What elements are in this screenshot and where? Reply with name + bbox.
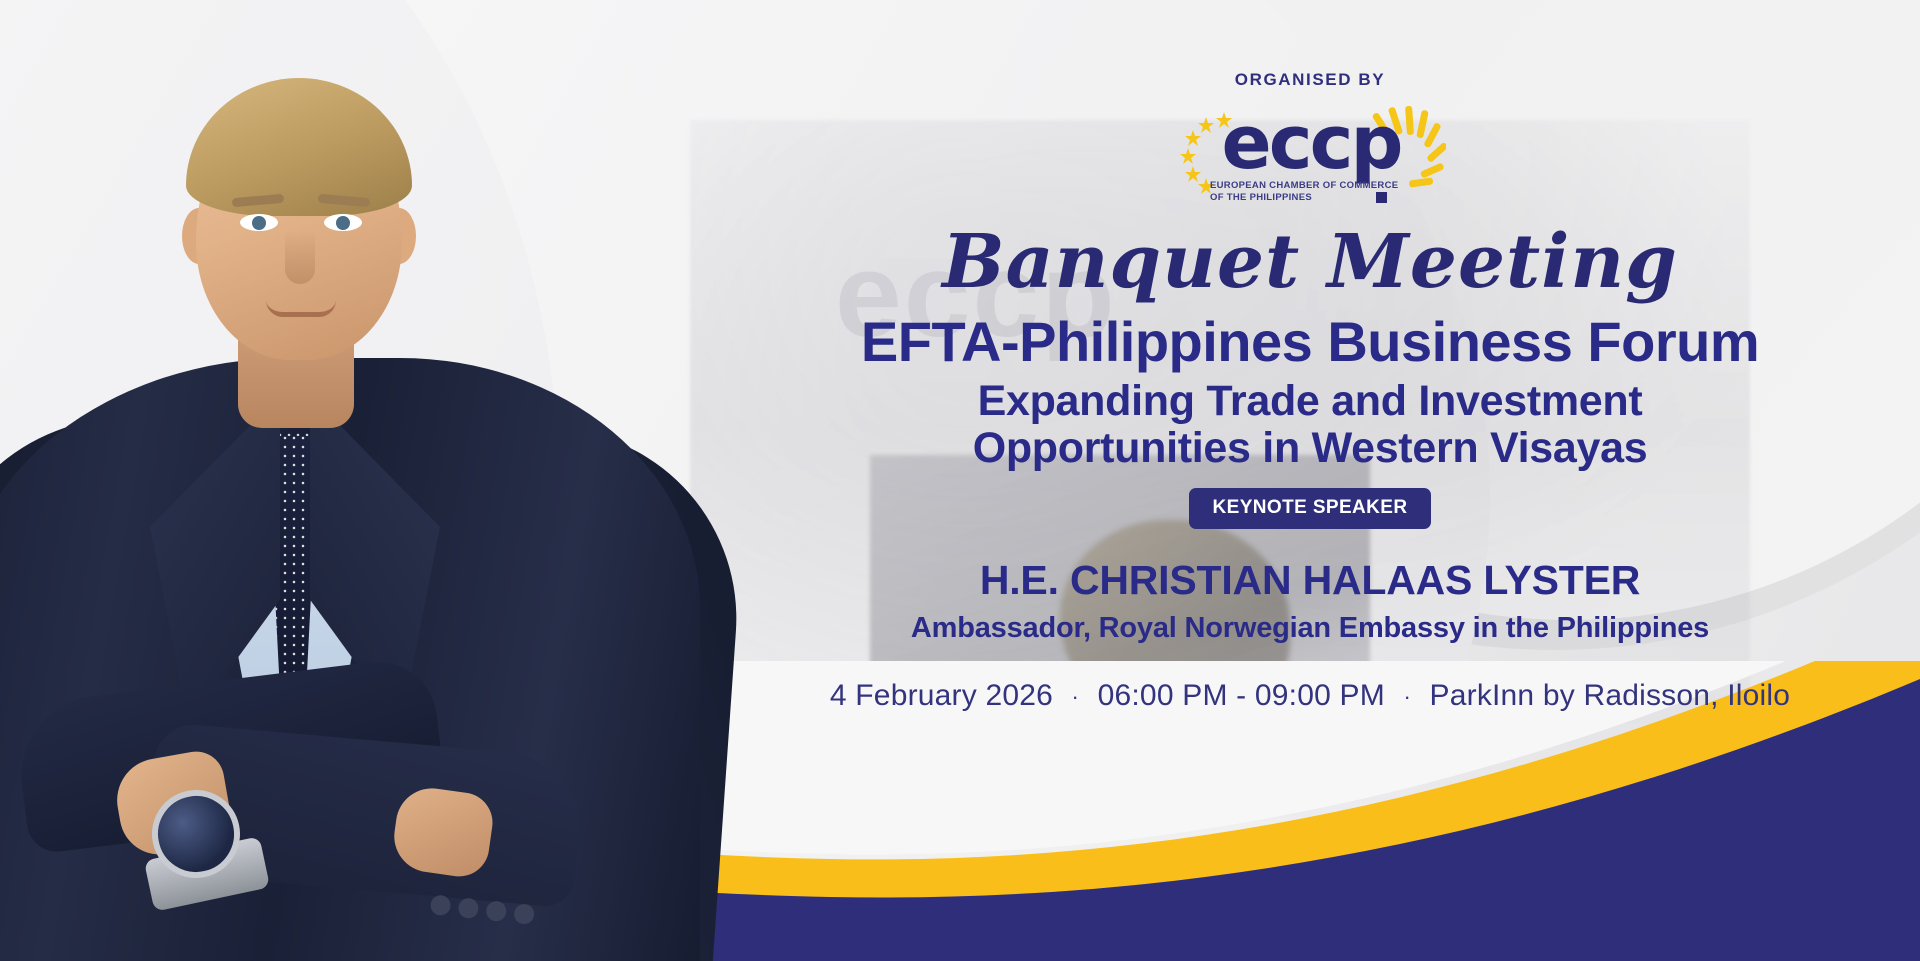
- eccp-tagline: EUROPEAN CHAMBER OF COMMERCE OF THE PHIL…: [1210, 180, 1426, 204]
- organised-by-label: ORGANISED BY: [700, 70, 1920, 90]
- cuff-button: [485, 900, 507, 922]
- detail-separator: ·: [1062, 684, 1090, 710]
- event-subtitle-line2: Opportunities in Western Visayas: [700, 425, 1920, 472]
- portrait-nose: [285, 230, 315, 284]
- event-banner: eccp: [0, 0, 1920, 961]
- speaker-portrait-photo: [0, 0, 700, 961]
- content-column: ORGANISED BY: [700, 0, 1920, 961]
- portrait-iris-right: [336, 216, 350, 230]
- event-kicker: Banquet Meeting: [700, 225, 1920, 299]
- eccp-tagline-line1: EUROPEAN CHAMBER OF COMMERCE: [1210, 180, 1426, 192]
- cuff-button: [513, 903, 535, 925]
- event-subtitle-line1: Expanding Trade and Investment: [700, 378, 1920, 425]
- event-time: 06:00 PM - 09:00 PM: [1098, 679, 1385, 712]
- cuff-button: [430, 894, 452, 916]
- speaker-role: Ambassador, Royal Norwegian Embassy in t…: [700, 612, 1920, 645]
- eccp-logo-square-mark: [1376, 192, 1387, 203]
- event-title: EFTA-Philippines Business Forum: [700, 313, 1920, 372]
- portrait-hair: [186, 78, 412, 216]
- keynote-speaker-badge: KEYNOTE SPEAKER: [1189, 488, 1432, 529]
- event-subtitle: Expanding Trade and Investment Opportuni…: [700, 378, 1920, 473]
- portrait-mouth: [266, 300, 336, 317]
- event-details: 4 February 2026 · 06:00 PM - 09:00 PM · …: [700, 679, 1920, 713]
- portrait-iris-left: [252, 216, 266, 230]
- speaker-name: H.E. CHRISTIAN HALAAS LYSTER: [700, 557, 1920, 604]
- event-date: 4 February 2026: [830, 679, 1053, 712]
- cuff-button: [457, 897, 479, 919]
- eccp-wordmark: eccp: [1208, 106, 1414, 180]
- event-venue: ParkInn by Radisson, Iloilo: [1430, 679, 1791, 712]
- eccp-tagline-line2: OF THE PHILIPPINES: [1210, 192, 1426, 204]
- eccp-logo: eccp EUROPEAN CHAMBER OF COMMERCE OF THE…: [1180, 104, 1440, 214]
- detail-separator: ·: [1393, 684, 1421, 710]
